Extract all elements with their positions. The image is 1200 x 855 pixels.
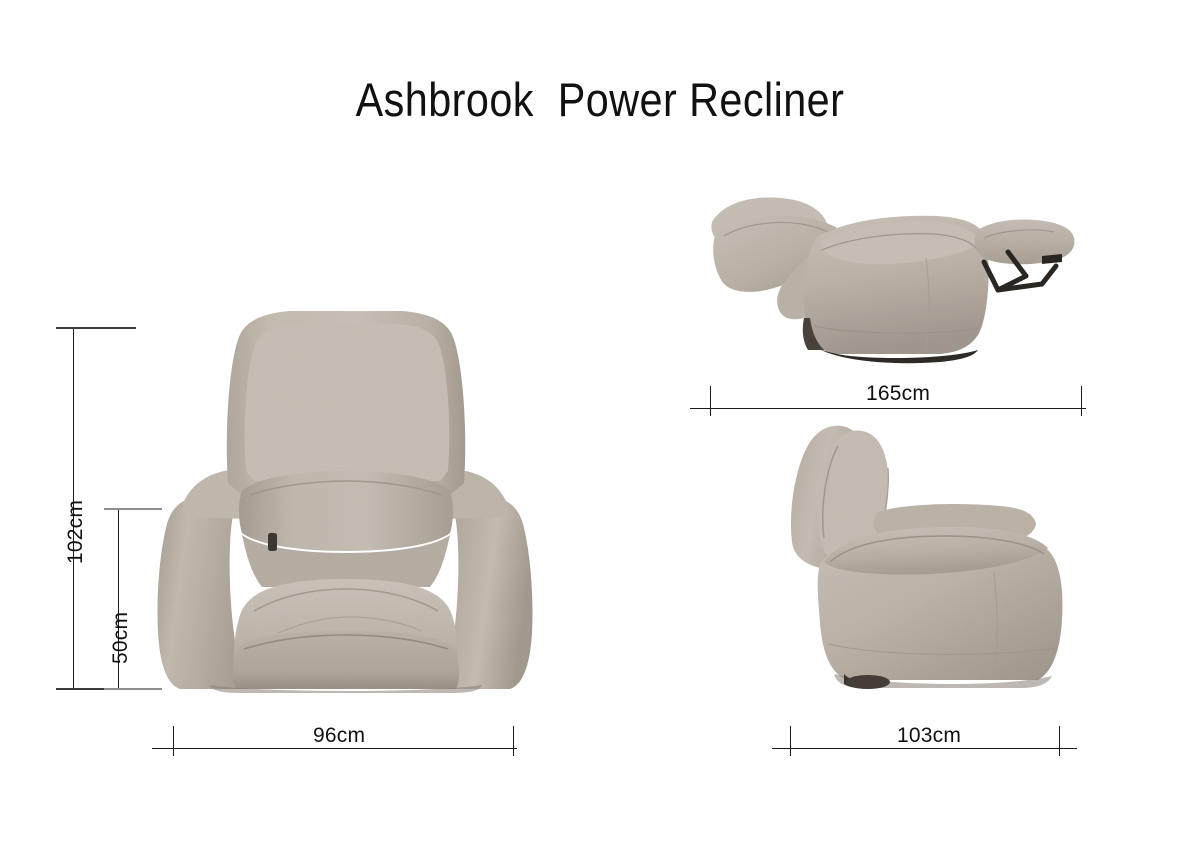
dimension-tick-left-103: [790, 726, 791, 756]
dimension-label-depth: 103cm: [897, 724, 961, 748]
dimension-label-width: 96cm: [313, 724, 365, 748]
dimension-line-horizontal-165: [690, 408, 1086, 409]
dimension-label-seat-height: 50cm: [109, 612, 133, 664]
dimension-tick-top-50: [104, 508, 162, 510]
dimension-tick-left-96: [173, 726, 174, 756]
power-control-button-icon: [268, 533, 277, 551]
recliner-front-view: [150, 295, 540, 695]
dimension-tick-bottom-50: [104, 688, 162, 690]
dimension-tick-right-103: [1059, 726, 1060, 756]
dimension-tick-right-165: [1081, 386, 1082, 416]
dimension-tick-top-102: [56, 327, 136, 329]
dimension-label-reclined-length: 165cm: [866, 382, 930, 406]
recliner-reclined-side-view: [690, 180, 1090, 375]
dimension-tick-left-165: [710, 386, 711, 416]
dimension-tick-right-96: [513, 726, 514, 756]
page-title: Ashbrook Power Recliner: [72, 76, 1128, 123]
recliner-upright-side-view: [780, 412, 1090, 702]
dimension-line-horizontal-96: [152, 748, 517, 749]
dimension-label-height: 102cm: [64, 500, 88, 564]
dimension-sheet: Ashbrook Power Recliner: [0, 0, 1200, 855]
dimension-line-horizontal-103: [772, 748, 1077, 749]
